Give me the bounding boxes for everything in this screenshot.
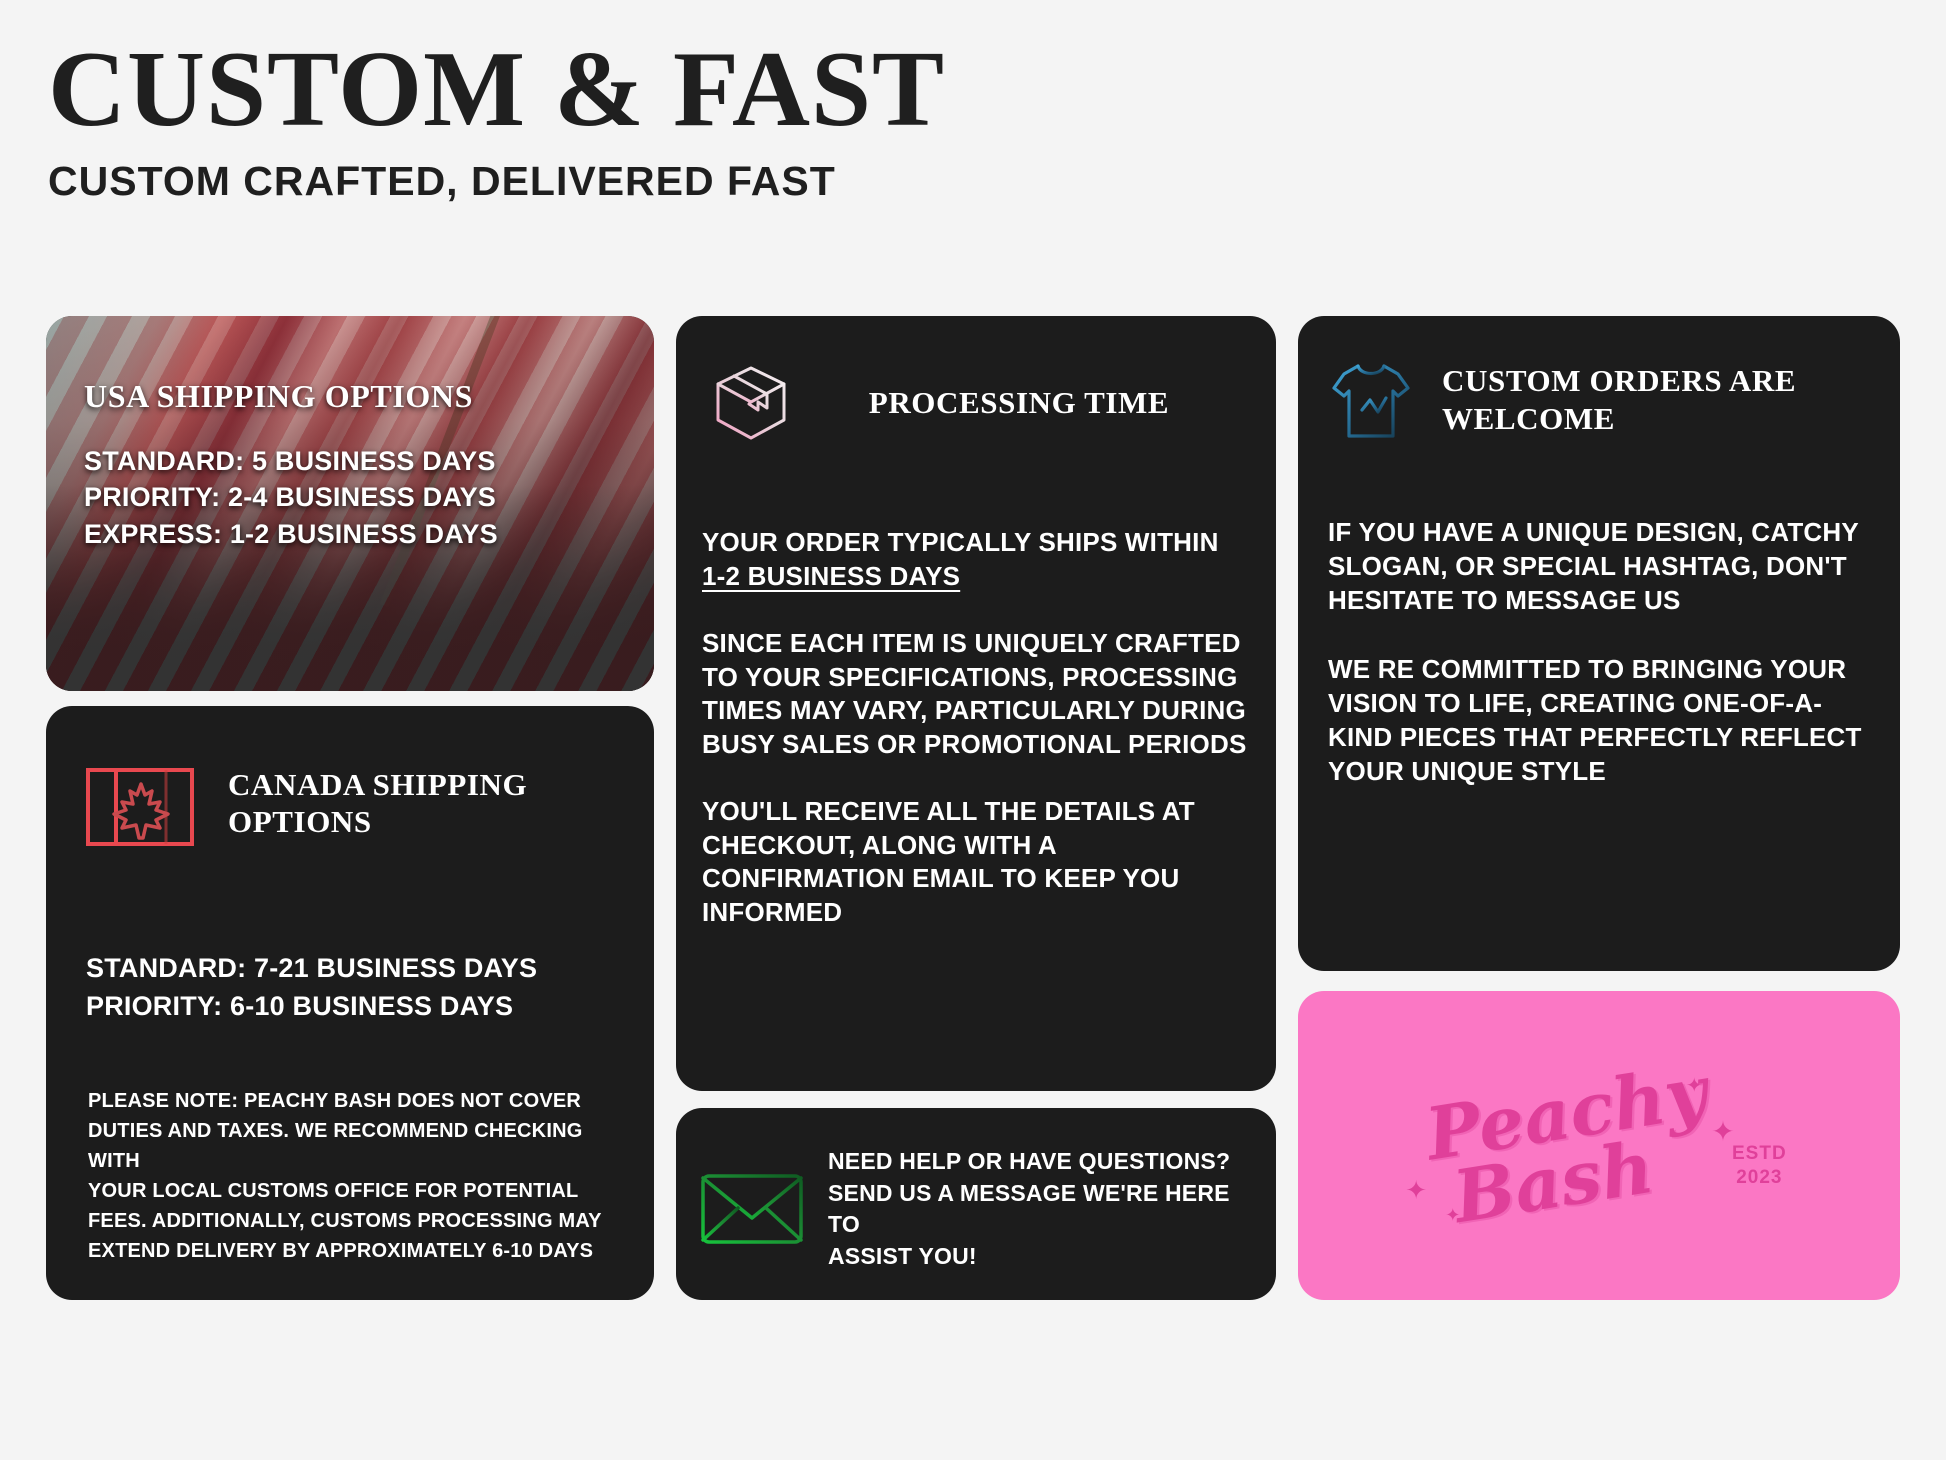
shipping-info-page: CUSTOM & FAST CUSTOM CRAFTED, DELIVERED …	[0, 0, 1946, 1460]
help-card-content: NEED HELP OR HAVE QUESTIONS? SEND US A M…	[700, 1146, 1252, 1273]
canada-shipping-rates: STANDARD: 7-21 BUSINESS DAYS PRIORITY: 6…	[86, 950, 537, 1026]
tshirt-icon	[1328, 358, 1414, 444]
usa-rate-priority: PRIORITY: 2-4 BUSINESS DAYS	[84, 479, 628, 515]
canada-note-line: FEES. ADDITIONALLY, CUSTOMS PROCESSING M…	[88, 1206, 624, 1236]
canada-note-line: YOUR LOCAL CUSTOMS OFFICE FOR POTENTIAL	[88, 1176, 624, 1206]
card-brand-logo: ✦ ✦ ✦ ✦ Peachy Bash ESTD 2023	[1298, 991, 1900, 1300]
processing-paragraph-1: YOUR ORDER TYPICALLY SHIPS WITHIN 1-2 BU…	[702, 526, 1254, 593]
help-line: NEED HELP OR HAVE QUESTIONS?	[828, 1146, 1252, 1178]
processing-lead-text: YOUR ORDER TYPICALLY SHIPS WITHIN	[702, 527, 1219, 557]
processing-body: YOUR ORDER TYPICALLY SHIPS WITHIN 1-2 BU…	[702, 526, 1254, 963]
processing-heading: PROCESSING TIME	[820, 385, 1248, 421]
card-need-help[interactable]: NEED HELP OR HAVE QUESTIONS? SEND US A M…	[676, 1108, 1276, 1300]
card-custom-orders: CUSTOM ORDERS ARE WELCOME IF YOU HAVE A …	[1298, 316, 1900, 971]
help-line: SEND US A MESSAGE WE'RE HERE TO	[828, 1178, 1252, 1241]
canada-heading: CANADA SHIPPING OPTIONS	[228, 762, 620, 840]
usa-shipping-rates: STANDARD: 5 BUSINESS DAYS PRIORITY: 2-4 …	[84, 443, 628, 552]
usa-card-content: USA SHIPPING OPTIONS STANDARD: 5 BUSINES…	[84, 378, 628, 552]
canada-flag-icon	[86, 768, 194, 846]
processing-paragraph-3: YOU'LL RECEIVE ALL THE DETAILS AT CHECKO…	[702, 795, 1254, 929]
custom-orders-header: CUSTOM ORDERS ARE WELCOME	[1328, 352, 1866, 444]
canada-note-line: EXTEND DELIVERY BY APPROXIMATELY 6-10 DA…	[88, 1236, 624, 1266]
canada-note-line: PLEASE NOTE: PEACHY BASH DOES NOT COVER	[88, 1086, 624, 1116]
canada-rate-standard: STANDARD: 7-21 BUSINESS DAYS	[86, 950, 537, 988]
envelope-icon	[700, 1170, 804, 1248]
card-processing-time: PROCESSING TIME YOUR ORDER TYPICALLY SHI…	[676, 316, 1276, 1091]
logo-estd-badge: ESTD 2023	[1732, 1142, 1787, 1190]
usa-heading: USA SHIPPING OPTIONS	[84, 378, 628, 415]
canada-customs-note: PLEASE NOTE: PEACHY BASH DOES NOT COVER …	[88, 1086, 624, 1266]
logo-wordmark: Peachy Bash	[1431, 1079, 1714, 1211]
package-box-icon	[706, 358, 796, 448]
peachy-bash-logo: ✦ ✦ ✦ ✦ Peachy Bash ESTD 2023	[1431, 1079, 1786, 1211]
card-canada-shipping: CANADA SHIPPING OPTIONS STANDARD: 7-21 B…	[46, 706, 654, 1300]
usa-rate-standard: STANDARD: 5 BUSINESS DAYS	[84, 443, 628, 479]
card-grid: USA SHIPPING OPTIONS STANDARD: 5 BUSINES…	[0, 0, 1946, 1460]
custom-orders-body: IF YOU HAVE A UNIQUE DESIGN, CATCHY SLOG…	[1328, 516, 1876, 825]
processing-card-header: PROCESSING TIME	[706, 358, 1248, 448]
estd-year: 2023	[1732, 1166, 1787, 1190]
estd-label: ESTD	[1732, 1142, 1787, 1166]
usa-rate-express: EXPRESS: 1-2 BUSINESS DAYS	[84, 516, 628, 552]
card-usa-shipping: USA SHIPPING OPTIONS STANDARD: 5 BUSINES…	[46, 316, 654, 691]
processing-emphasis-text: 1-2 BUSINESS DAYS	[702, 561, 960, 591]
processing-paragraph-2: SINCE EACH ITEM IS UNIQUELY CRAFTED TO Y…	[702, 627, 1254, 761]
custom-orders-heading: CUSTOM ORDERS ARE WELCOME	[1442, 352, 1866, 438]
sparkle-icon: ✦	[1405, 1175, 1427, 1206]
canada-note-line: DUTIES AND TAXES. WE RECOMMEND CHECKING …	[88, 1116, 624, 1176]
canada-card-header: CANADA SHIPPING OPTIONS	[86, 762, 620, 846]
custom-orders-paragraph-1: IF YOU HAVE A UNIQUE DESIGN, CATCHY SLOG…	[1328, 516, 1876, 617]
help-text-block: NEED HELP OR HAVE QUESTIONS? SEND US A M…	[828, 1146, 1252, 1273]
canada-rate-priority: PRIORITY: 6-10 BUSINESS DAYS	[86, 988, 537, 1026]
custom-orders-paragraph-2: WE RE COMMITTED TO BRINGING YOUR VISION …	[1328, 653, 1876, 788]
help-line: ASSIST YOU!	[828, 1241, 1252, 1273]
